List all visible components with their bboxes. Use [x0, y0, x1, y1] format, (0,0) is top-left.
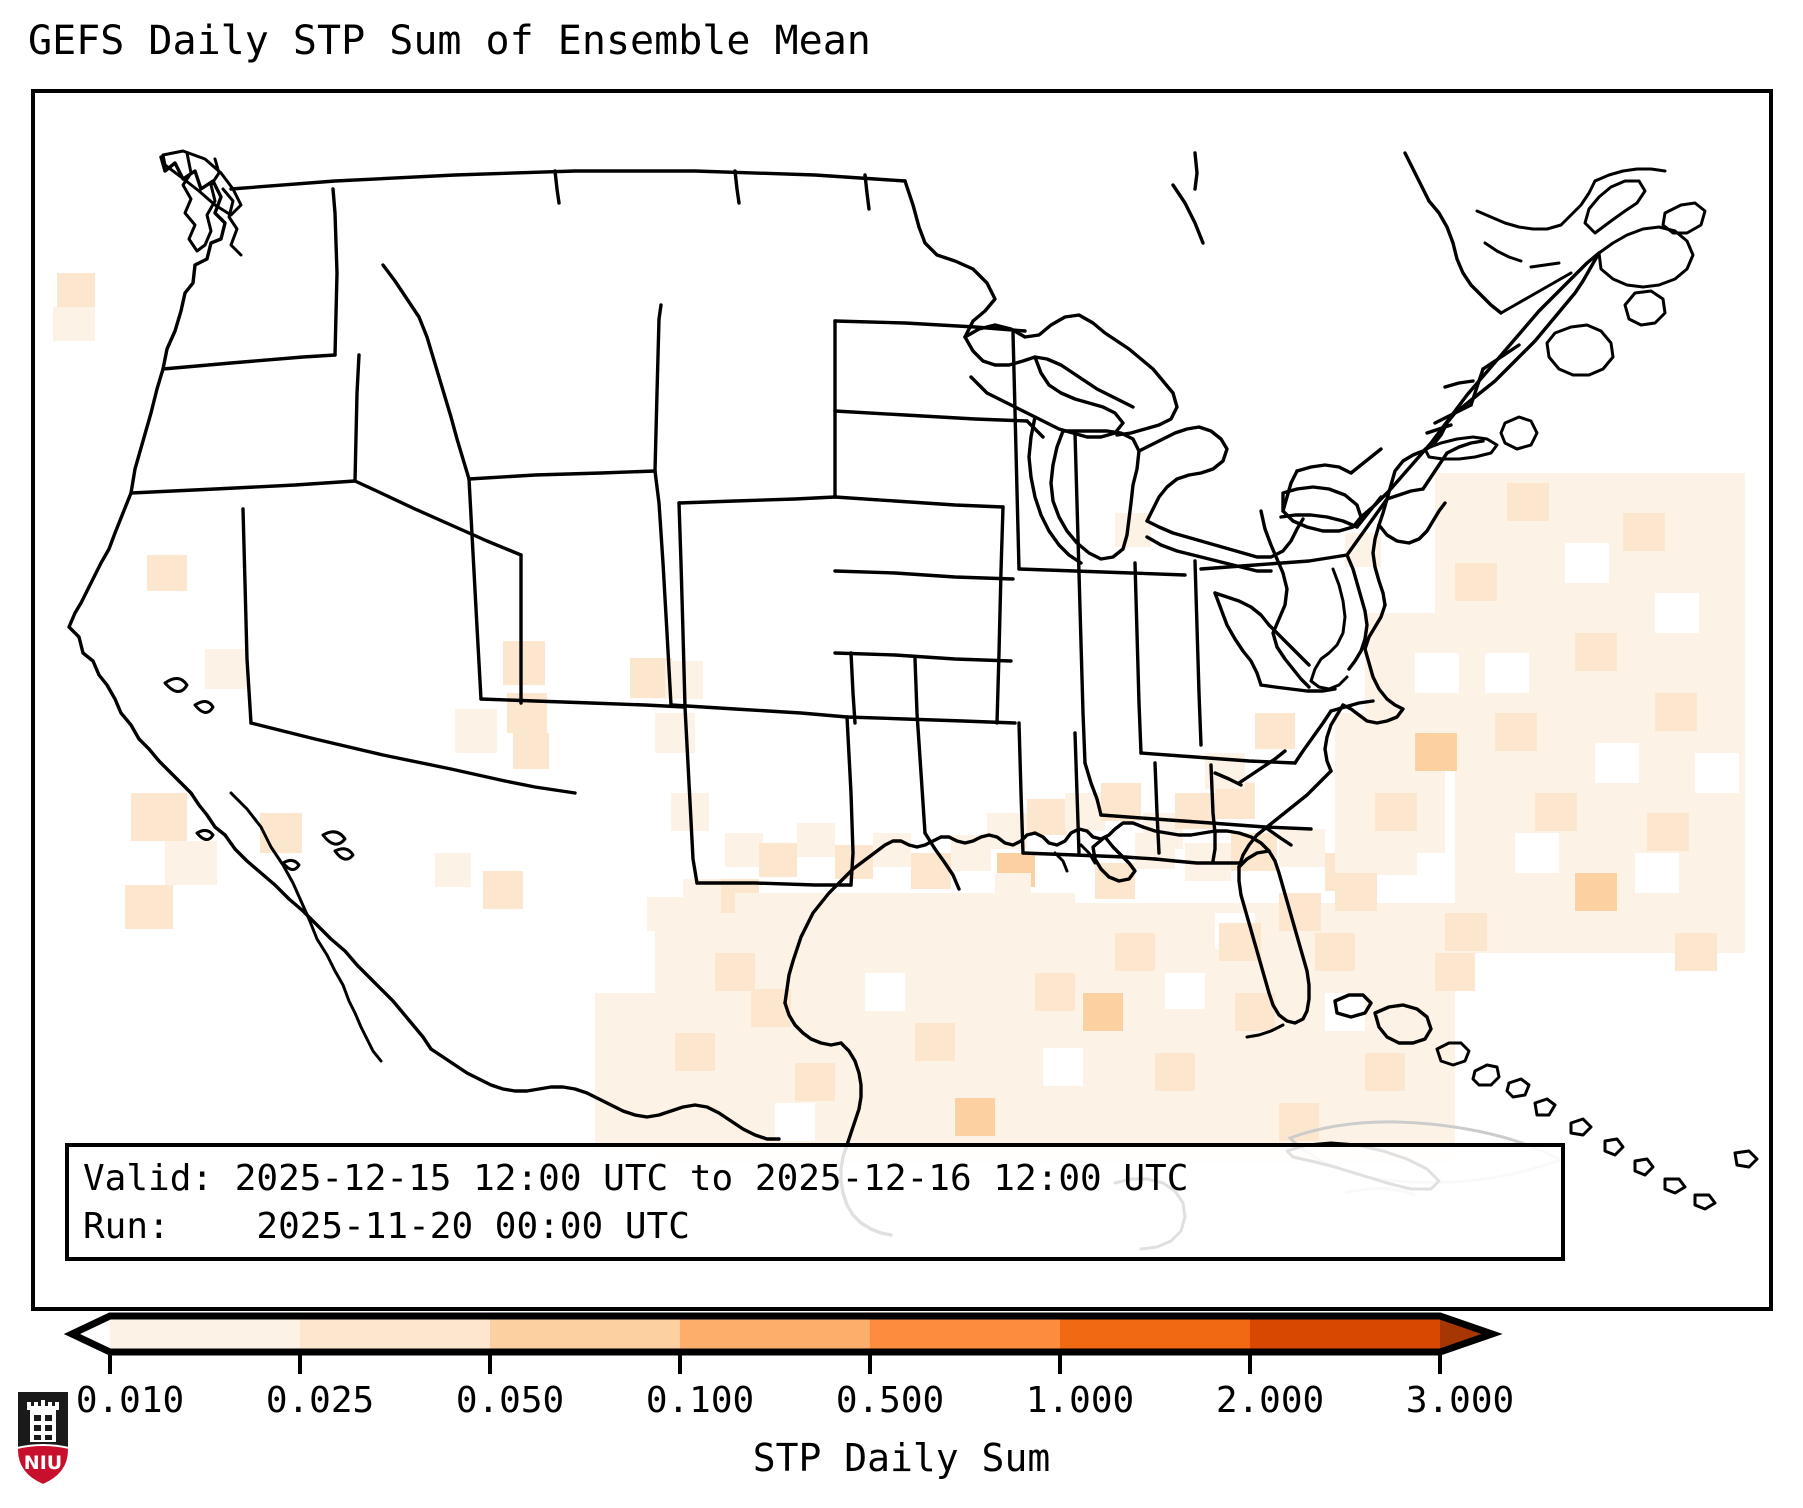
- colorbar-band-1: [110, 1316, 300, 1352]
- colorbar-canvas: [0, 1308, 1803, 1378]
- niu-logo: NIU: [14, 1388, 72, 1488]
- colorbar-tick-label-6: 2.000: [1216, 1380, 1324, 1421]
- colorbar-tick-label-4: 0.500: [836, 1380, 944, 1421]
- colorbar-axis-label: STP Daily Sum: [0, 1436, 1803, 1480]
- colorbar-band-6: [1060, 1316, 1250, 1352]
- colorbar-tick-label-7: 3.000: [1406, 1380, 1514, 1421]
- colorbar-tick-label-1: 0.025: [266, 1380, 374, 1421]
- colorbar-band-7: [1250, 1316, 1440, 1352]
- colorbar-tick-label-5: 1.000: [1026, 1380, 1134, 1421]
- colorbar: 0.010 0.025 0.050 0.100 0.500 1.000 2.00…: [0, 1308, 1803, 1508]
- colorbar-band-5: [870, 1316, 1060, 1352]
- page-title: GEFS Daily STP Sum of Ensemble Mean: [28, 18, 871, 64]
- info-box: Valid: 2025-12-15 12:00 UTC to 2025-12-1…: [65, 1143, 1565, 1261]
- colorbar-tick-label-0: 0.010: [76, 1380, 184, 1421]
- colorbar-band-2: [300, 1316, 490, 1352]
- colorbar-tick-label-3: 0.100: [646, 1380, 754, 1421]
- castle-tower-icon: [27, 1400, 59, 1442]
- map-canvas: .c1 { fill: #fdf2e6; } .c2 { fill: #fde6…: [35, 93, 1769, 1307]
- run-time-line: Run: 2025-11-20 00:00 UTC: [83, 1203, 1547, 1251]
- map-panel: .c1 { fill: #fdf2e6; } .c2 { fill: #fde6…: [31, 89, 1773, 1311]
- colorbar-tick-label-2: 0.050: [456, 1380, 564, 1421]
- colorbar-bands: [72, 1316, 1492, 1352]
- valid-time-line: Valid: 2025-12-15 12:00 UTC to 2025-12-1…: [83, 1155, 1547, 1203]
- colorbar-band-3: [490, 1316, 680, 1352]
- niu-logo-text: NIU: [24, 1452, 62, 1474]
- colorbar-band-4: [680, 1316, 870, 1352]
- niu-shield-icon: NIU: [14, 1388, 72, 1488]
